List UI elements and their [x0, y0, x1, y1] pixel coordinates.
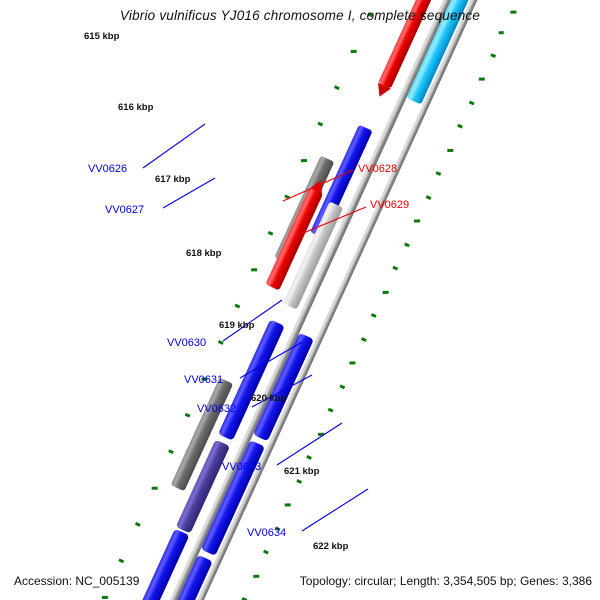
ruler-tick-label: 622 kbp	[313, 541, 348, 552]
sequence-stats-text: Topology: circular; Length: 3,354,505 bp…	[300, 574, 592, 588]
ruler-tick-label: 615 kbp	[84, 31, 119, 42]
gene-label-vv0630[interactable]: VV0630	[167, 337, 206, 349]
gene-label-vv0634[interactable]: VV0634	[247, 527, 286, 539]
gene-label-vv0627[interactable]: VV0627	[105, 204, 144, 216]
gene-label-vv0632[interactable]: VV0632	[197, 403, 236, 415]
leader-line	[143, 124, 205, 168]
ruler-tick-label: 620 kbp	[251, 393, 286, 404]
ruler-tick-label: 617 kbp	[155, 174, 190, 185]
gene-track-outer	[65, 0, 457, 600]
ruler-tick-label: 616 kbp	[118, 102, 153, 113]
tick-track-minor	[101, 0, 391, 600]
gene-label-vv0626[interactable]: VV0626	[88, 163, 127, 175]
leader-line	[302, 489, 368, 531]
tick-track	[208, 7, 518, 600]
ruler-tick-label: 618 kbp	[186, 248, 221, 259]
gene-label-vv0629[interactable]: VV0629	[370, 199, 409, 211]
accession-text: Accession: NC_005139	[14, 574, 139, 588]
genome-map-viewer: Vibrio vulnificus YJ016 chromosome I, co…	[0, 0, 600, 600]
ruler-tick-label: 621 kbp	[284, 466, 319, 477]
gene-label-vv0633[interactable]: VV0633	[222, 461, 261, 473]
ruler-tick-label: 619 kbp	[219, 320, 254, 331]
genome-diagram	[0, 0, 600, 600]
page-title: Vibrio vulnificus YJ016 chromosome I, co…	[0, 8, 600, 23]
gene-label-vv0631[interactable]: VV0631	[184, 374, 223, 386]
gene-label-vv0628[interactable]: VV0628	[358, 163, 397, 175]
